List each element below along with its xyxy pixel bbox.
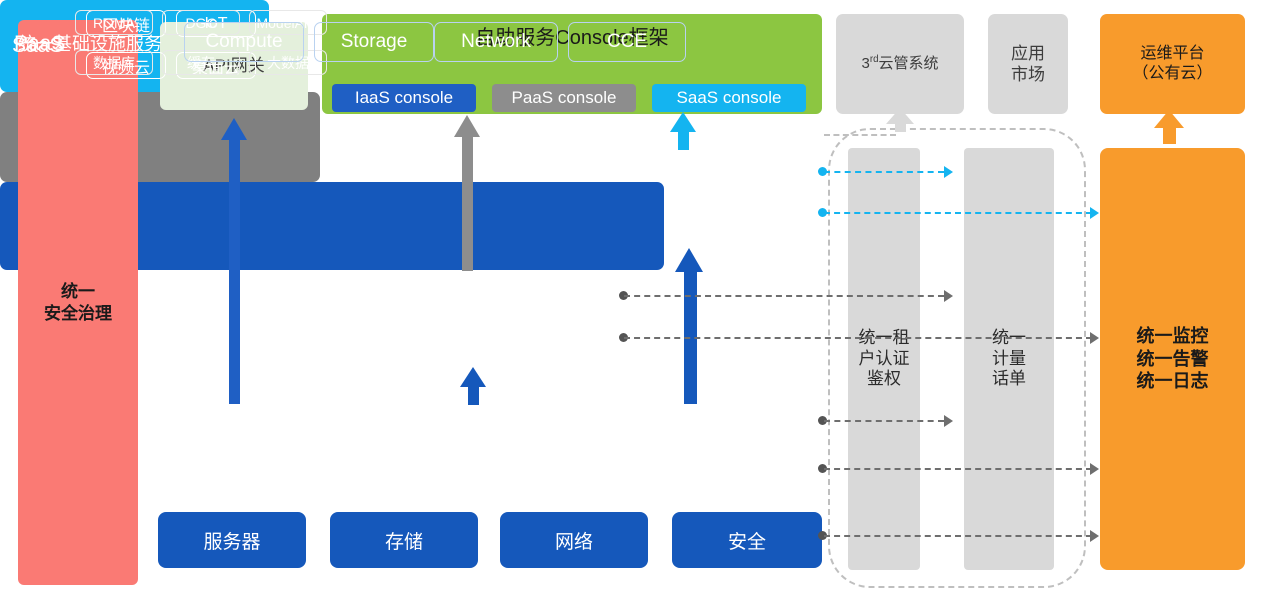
dashed-line-infra-to-auth	[824, 420, 944, 422]
app-market-line1: 应用	[1011, 43, 1045, 64]
dashed-line-saas-to-monitoring	[824, 212, 1092, 214]
dashed-arrowhead-paas-to-monitoring-icon	[1090, 332, 1099, 344]
ops-platform-line2: （公有云）	[1132, 64, 1212, 84]
dashed-arrowhead-saas-to-auth-icon	[944, 166, 953, 178]
unified-monitoring-panel[interactable]: 统一监控 统一告警 统一日志	[1100, 148, 1245, 570]
infra-chip-compute[interactable]: Compute	[184, 22, 304, 62]
arrow-to-ops-platform-head-icon	[1154, 110, 1184, 128]
architecture-diagram: 统一 安全治理 API网关 自助服务Console框架 IaaS console…	[0, 0, 1265, 605]
arrow-to-third-party-cloud-head-icon	[886, 108, 914, 124]
arrow-infra-to-api-gateway-head-icon	[221, 118, 247, 140]
unified-tenant-auth-line3: 鉴权	[859, 369, 910, 389]
arrow-to-ops-platform-stem	[1163, 126, 1176, 144]
paas-console-chip[interactable]: PaaS console	[492, 84, 636, 112]
third-party-cloud-mgmt-label: 3rd云管系统	[861, 54, 938, 74]
infra-chip-cce[interactable]: CCE	[568, 22, 686, 62]
unified-monitoring-line1: 统一监控	[1137, 325, 1209, 348]
dashed-line-paas-to-monitoring	[624, 337, 1092, 339]
unified-monitoring-line2: 统一告警	[1137, 348, 1209, 371]
arrow-paas-to-console-stem	[462, 135, 473, 271]
arrow-infra-to-paas-stem	[468, 385, 479, 405]
hardware-box-network[interactable]: 网络	[500, 512, 648, 568]
ops-platform-line1: 运维平台	[1132, 44, 1212, 64]
dashed-arrowhead-infra-to-auth-icon	[944, 415, 953, 427]
app-market-line2: 市场	[1011, 64, 1045, 85]
infra-chip-network[interactable]: Network	[434, 22, 558, 62]
unified-metering-line3: 话单	[992, 369, 1026, 389]
arrow-infra-to-saas-head-icon	[675, 248, 703, 272]
security-governance-line2: 安全治理	[44, 303, 112, 324]
arrow-paas-to-console-head-icon	[454, 115, 480, 137]
infra-chip-storage[interactable]: Storage	[314, 22, 434, 62]
hardware-box-storage[interactable]: 存储	[330, 512, 478, 568]
dashed-line-saas-to-auth	[824, 171, 944, 173]
infrastructure-services-label: 统一基础设施服务	[18, 30, 162, 56]
dashed-arrowhead-hardware-to-monitoring-icon	[1090, 530, 1099, 542]
unified-tenant-auth-line2: 户认证	[859, 349, 910, 369]
dashed-line-infra-to-monitoring	[824, 468, 1092, 470]
iaas-console-chip[interactable]: IaaS console	[332, 84, 476, 112]
dashed-line-hardware-to-monitoring	[824, 535, 1092, 537]
ops-platform-box[interactable]: 运维平台 （公有云）	[1100, 14, 1245, 114]
saas-console-chip[interactable]: SaaS console	[652, 84, 806, 112]
dashed-line-to-third-party-cloud	[824, 134, 896, 136]
arrow-saas-to-console-head-icon	[670, 112, 696, 132]
security-governance-panel[interactable]: 统一 安全治理	[18, 20, 138, 585]
hardware-box-security[interactable]: 安全	[672, 512, 822, 568]
dashed-arrowhead-saas-to-monitoring-icon	[1090, 207, 1099, 219]
dashed-line-paas-to-auth	[624, 295, 944, 297]
dashed-arrowhead-infra-to-monitoring-icon	[1090, 463, 1099, 475]
hardware-box-server[interactable]: 服务器	[158, 512, 306, 568]
dashed-arrowhead-paas-to-auth-icon	[944, 290, 953, 302]
app-market-box[interactable]: 应用 市场	[988, 14, 1068, 114]
arrow-infra-to-paas-head-icon	[460, 367, 486, 387]
unified-metering-line2: 计量	[992, 349, 1026, 369]
arrow-saas-to-console-stem	[678, 130, 689, 150]
arrow-infra-to-api-gateway-stem	[229, 138, 240, 404]
security-governance-line1: 统一	[44, 281, 112, 302]
third-party-cloud-mgmt-box[interactable]: 3rd云管系统	[836, 14, 964, 114]
unified-monitoring-line3: 统一日志	[1137, 370, 1209, 393]
